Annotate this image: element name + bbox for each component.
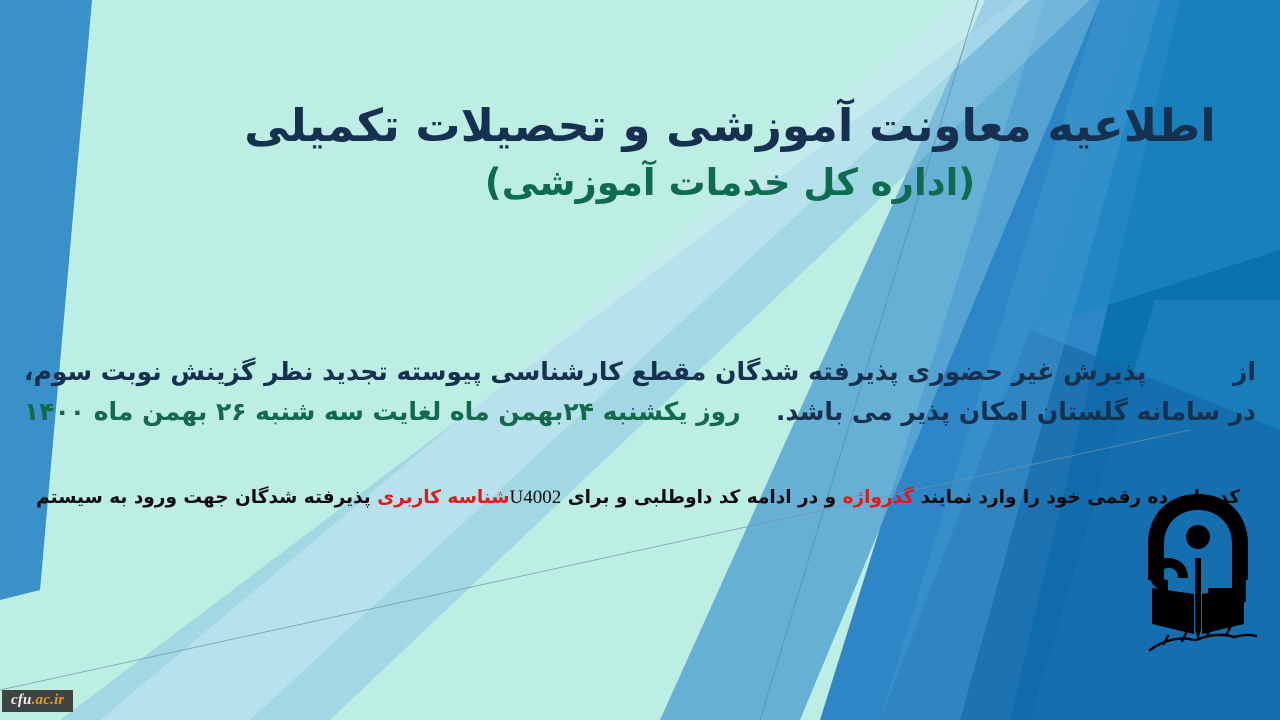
paragraph-one-line-1-end: از [1233, 352, 1256, 392]
logo-artwork [1134, 484, 1262, 654]
paragraph-two-seg-1: پذیرفته شدگان جهت ورود به سیستم [36, 487, 371, 508]
content-layer: اطلاعیه معاونت آموزشی و تحصیلات تکمیلی (… [0, 0, 1280, 720]
paragraph-one-line-1-main: پذیرش غیر حضوری پذیرفته شدگان مقطع کارشن… [24, 352, 1146, 392]
logo-book-right [1202, 588, 1244, 634]
title-block: اطلاعیه معاونت آموزشی و تحصیلات تکمیلی (… [180, 96, 1280, 207]
paragraph-two-username-label: شناسه کاربری [377, 487, 509, 508]
paragraph-one-line-1: از پذیرش غیر حضوری پذیرفته شدگان مقطع کا… [24, 352, 1256, 392]
announcement-paragraph-two: کد ملی ده رقمی خود را وارد نمایند گذرواژ… [125, 484, 1240, 513]
paragraph-one-line-2-navy: در سامانه گلستان امکان پذیر می باشد. [776, 392, 1256, 432]
cfu-site-watermark: cfu.ac.ir [2, 690, 73, 712]
logo-book-left [1152, 588, 1194, 634]
watermark-domain-tld: .ac.ir [32, 692, 65, 708]
watermark-domain-name: cfu [11, 692, 32, 708]
logo-pen [1195, 558, 1201, 640]
paragraph-one-line-2: در سامانه گلستان امکان پذیر می باشد. روز… [24, 392, 1256, 432]
farhangian-university-logo [1134, 484, 1262, 654]
logo-crescent [1150, 558, 1188, 591]
logo-dot [1186, 525, 1210, 549]
announcement-slide: اطلاعیه معاونت آموزشی و تحصیلات تکمیلی (… [0, 0, 1280, 720]
paragraph-one-line-2-green: روز یکشنبه ۲۴بهمن ماه لغایت سه شنبه ۲۶ ب… [24, 392, 741, 432]
announcement-paragraph-one: از پذیرش غیر حضوری پذیرفته شدگان مقطع کا… [24, 352, 1256, 432]
logo-mark [1148, 494, 1248, 640]
page-subtitle: (اداره کل خدمات آموزشی) [180, 159, 1280, 207]
paragraph-two-username-value: U4002 [510, 487, 562, 508]
paragraph-two-password-label: گذرواژه [843, 487, 915, 508]
paragraph-two-seg-4: و در ادامه کد داوطلبی و برای [568, 487, 836, 508]
page-title: اطلاعیه معاونت آموزشی و تحصیلات تکمیلی [180, 96, 1280, 155]
